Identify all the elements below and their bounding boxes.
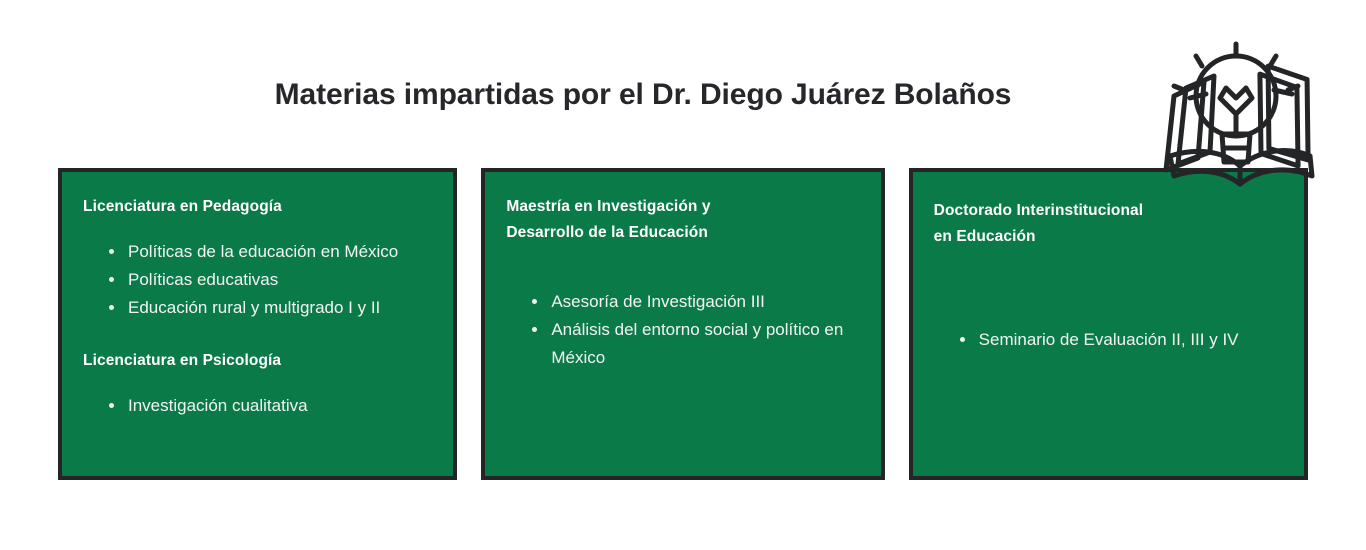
cards-row: Licenciatura en Pedagogía Políticas de l… <box>58 168 1308 480</box>
list-item: Seminario de Evaluación II, III y IV <box>977 326 1282 354</box>
card-doctorado: Doctorado Interinstitucional en Educació… <box>909 168 1308 480</box>
card-heading-licenciatura-pedagogia: Licenciatura en Pedagogía <box>80 194 431 220</box>
card-heading-licenciatura-psicologia: Licenciatura en Psicología <box>80 348 431 374</box>
card-heading-doctorado: Doctorado Interinstitucional en Educació… <box>931 198 1282 250</box>
list-item: Políticas de la educación en México <box>126 238 431 266</box>
list-item: Investigación cualitativa <box>126 392 431 420</box>
card-heading-maestria: Maestría en Investigación y Desarrollo d… <box>503 194 858 246</box>
subject-list-maestria: Asesoría de Investigación III Análisis d… <box>503 288 858 372</box>
card-licenciaturas: Licenciatura en Pedagogía Políticas de l… <box>58 168 457 480</box>
subject-list-doctorado: Seminario de Evaluación II, III y IV <box>931 326 1282 354</box>
spacer <box>931 250 1282 326</box>
spacer <box>503 246 858 288</box>
card-heading-line-1: Maestría en Investigación y <box>506 194 858 220</box>
card-heading-line-2: en Educación <box>934 224 1282 250</box>
subject-list-psicologia: Investigación cualitativa <box>80 392 431 420</box>
list-item: Educación rural y multigrado I y II <box>126 294 431 322</box>
infographic-page: Materias impartidas por el Dr. Diego Juá… <box>0 0 1366 550</box>
page-title: Materias impartidas por el Dr. Diego Juá… <box>0 75 1366 115</box>
list-item: Análisis del entorno social y político e… <box>549 316 858 372</box>
subject-list-pedagogia: Políticas de la educación en México Polí… <box>80 238 431 322</box>
card-heading-line-1: Doctorado Interinstitucional <box>934 198 1282 224</box>
list-item: Políticas educativas <box>126 266 431 294</box>
card-maestria: Maestría en Investigación y Desarrollo d… <box>481 168 884 480</box>
list-item: Asesoría de Investigación III <box>549 288 858 316</box>
card-heading-line-2: Desarrollo de la Educación <box>506 220 858 246</box>
